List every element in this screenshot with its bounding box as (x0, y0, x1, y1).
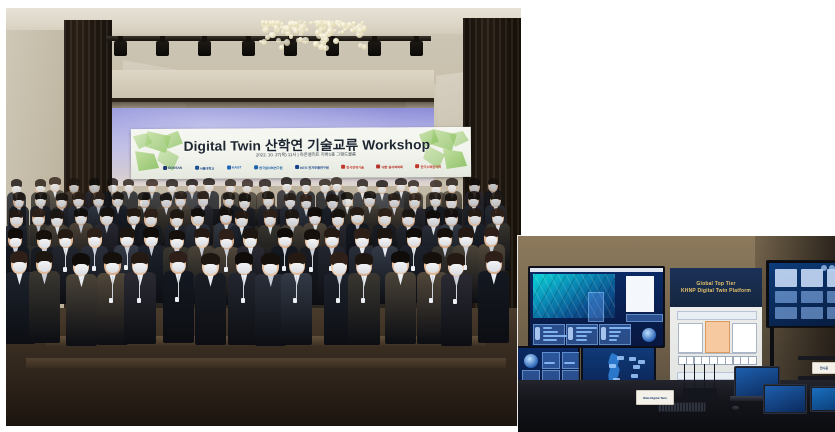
lanyard-cord (413, 248, 414, 265)
router-antenna (684, 364, 685, 389)
sensor-bar (543, 339, 557, 341)
name-badge (63, 267, 67, 272)
plant-site-marker (631, 374, 638, 378)
banner-sponsor-logo: KETI 전자부품연구원 (295, 164, 329, 169)
sensor-bar (609, 335, 619, 337)
name-badge (241, 298, 245, 303)
name-badge (453, 299, 457, 304)
name-badge (92, 266, 96, 271)
face-mask (237, 218, 247, 226)
banner-sponsor-logo: DOOSAN (163, 166, 182, 170)
lanyard-cord (312, 250, 313, 267)
sensor-bar (576, 327, 597, 329)
sponsor-logo-mark (195, 166, 199, 170)
name-badge (411, 266, 415, 271)
face-mask (283, 184, 291, 191)
sponsor-logo-label: KAIST (232, 165, 242, 169)
face-mask (188, 185, 196, 192)
face-mask (140, 200, 149, 207)
lanyard-cord (243, 277, 244, 299)
plant-site-marker (633, 365, 640, 369)
monitor-screen (530, 268, 663, 346)
side-info-panel (626, 276, 654, 312)
lanyard-cord (296, 276, 297, 298)
face-mask (333, 263, 346, 274)
chandelier (258, 20, 368, 50)
stage-light (114, 41, 127, 56)
face-mask (356, 238, 368, 247)
name-badge (109, 298, 113, 303)
dashboard-bar (564, 362, 575, 364)
sensor-icon (568, 327, 573, 340)
lanyard-cord (178, 275, 179, 297)
lanyard-cord (456, 278, 457, 300)
face-mask (470, 216, 480, 224)
dashboard-tile (562, 352, 580, 369)
tv-chart-widget (775, 269, 797, 287)
face-mask (428, 218, 438, 226)
banner-sponsor-logo: 한국원자력연구원 (254, 165, 283, 170)
chandelier-bulb (279, 45, 284, 50)
poster-diagram-box (678, 323, 703, 353)
face-mask (450, 264, 463, 275)
face-mask (146, 237, 158, 246)
face-mask (447, 201, 456, 208)
chandelier-bulb (303, 21, 306, 24)
poster-diagram-box (732, 323, 757, 353)
workshop-banner: Digital Twin 산학연 기술교류 Workshop 2022. 10.… (131, 127, 471, 179)
sponsor-logo-mark (163, 166, 167, 170)
sensor-bar (543, 335, 567, 337)
face-mask (51, 184, 59, 191)
screenshot-canvas: Digital Twin 산학연 기술교류 Workshop 2022. 10.… (0, 0, 835, 432)
face-mask (431, 199, 440, 206)
face-mask (328, 201, 337, 208)
face-mask (240, 201, 249, 208)
dashboard-tile (542, 352, 560, 369)
banner-sponsor-logo-row: DOOSAN서울대학교KAIST한국원자력연구원KETI 전자부품연구원한국전력… (163, 160, 441, 174)
equipment-shelf (798, 356, 835, 360)
sponsor-logo-mark (377, 164, 381, 168)
face-mask (448, 185, 456, 192)
chandelier-bulb (261, 39, 267, 45)
wall-tv-monitor (766, 260, 835, 328)
sponsor-logo-label: 한국원자력연구원 (259, 165, 283, 170)
face-mask (171, 239, 183, 248)
tv-indicator (821, 265, 827, 271)
chandelier-bulb (261, 20, 264, 23)
name-badge (429, 298, 433, 303)
chandelier-bulb (285, 26, 291, 32)
face-mask (162, 200, 171, 207)
sponsor-logo-label: DOOSAN (168, 166, 182, 170)
sponsor-logo-label: KETI 전자부품연구원 (300, 164, 329, 169)
lanyard-cord (432, 276, 433, 298)
name-badge (282, 266, 286, 271)
chandelier-bulb (316, 20, 322, 26)
face-mask (172, 218, 182, 226)
lanyard-cord (284, 249, 285, 266)
sensor-bar (576, 339, 587, 341)
face-mask (302, 201, 311, 208)
exhibit-label-card: Web-Digital Twin (636, 390, 674, 405)
plant-site-marker (617, 356, 624, 360)
chandelier-bulb (269, 32, 275, 38)
name-badge (124, 265, 128, 270)
plant-site-marker (629, 357, 636, 361)
face-mask (148, 186, 156, 193)
chandelier-bulb (352, 21, 355, 24)
exhibit-label-text: Web-Digital Twin (643, 396, 667, 400)
chandelier-bulb (343, 28, 347, 32)
face-mask (326, 237, 338, 246)
face-mask (196, 237, 208, 246)
tablet-screen (812, 388, 835, 410)
face-mask (114, 199, 123, 206)
shelf-sign-card: 전시품 (812, 362, 835, 374)
face-mask (199, 199, 208, 206)
attendee-crowd (6, 176, 521, 426)
poster-headline: Global Top Tier KHNP Digital Twin Platfo… (670, 268, 762, 307)
tv-status-widget (801, 291, 823, 303)
poster-headline-line2: KHNP Digital Twin Platform (681, 288, 751, 294)
face-mask (10, 238, 22, 247)
name-badge (137, 298, 141, 303)
lanyard-cord (465, 248, 466, 265)
poster-caption-strip (677, 311, 757, 320)
face-mask (102, 216, 112, 224)
lanyard-cord (65, 249, 66, 266)
face-mask (408, 237, 420, 246)
sensor-bar (609, 331, 621, 333)
lanyard-cord (363, 277, 364, 299)
face-mask (302, 185, 310, 192)
router-antenna (704, 364, 705, 389)
face-mask (390, 200, 399, 207)
tv-chart-widget (827, 269, 835, 287)
face-mask (446, 217, 456, 225)
face-mask (287, 218, 297, 226)
face-mask (307, 239, 319, 248)
chandelier-bulb (362, 44, 368, 50)
workshop-group-photo: Digital Twin 산학연 기술교류 Workshop 2022. 10.… (6, 8, 521, 426)
router-antenna (694, 364, 695, 389)
banner-sponsor-logo: 한국수력원자력 (416, 164, 442, 169)
face-mask (379, 238, 391, 247)
lanyard-cord (139, 276, 140, 298)
sensor-icon (601, 327, 606, 340)
name-badge (361, 298, 365, 303)
main-3d-digital-twin-monitor (528, 266, 665, 348)
chandelier-bulb (299, 24, 305, 30)
sponsor-logo-label: 서울대학교 (200, 165, 215, 170)
circular-gauge (642, 328, 656, 342)
sensor-bar (576, 335, 587, 337)
name-badge (293, 298, 297, 303)
shelf-sign-text: 전시품 (820, 366, 828, 370)
lanyard-cord (226, 250, 227, 267)
sensor-bar (576, 331, 592, 333)
data-list-panel (588, 292, 604, 322)
plant-site-marker (638, 360, 645, 364)
tv-status-widget (775, 307, 797, 319)
banner-sponsor-logo: KAIST (227, 165, 242, 169)
screen-titlebar (530, 268, 663, 272)
face-mask (286, 200, 295, 207)
face-mask (343, 199, 352, 206)
stage-light (198, 41, 211, 56)
tv-status-widget (801, 307, 823, 319)
wifi-router (683, 388, 717, 397)
face-mask (221, 239, 233, 248)
sponsor-logo-mark (416, 164, 420, 168)
tv-status-widget (775, 291, 797, 303)
sensor-bar (609, 339, 617, 341)
face-mask (409, 186, 417, 193)
mouse (732, 406, 739, 410)
face-mask (38, 261, 51, 272)
lanyard-cord (94, 249, 95, 266)
sensor-bar (543, 327, 552, 329)
stage-light (156, 41, 169, 56)
sponsor-logo-label: 대한 원자력학회 (382, 164, 403, 169)
banner-leaf (135, 151, 159, 171)
name-badge (336, 298, 340, 303)
sensor-icon (535, 327, 540, 340)
poster-headline-line1: Global Top Tier (696, 281, 735, 287)
khnp-digital-twin-exhibit-booth: Global Top Tier KHNP Digital Twin Platfo… (518, 236, 835, 432)
chandelier-bulb (324, 37, 329, 42)
stage-light (242, 41, 255, 56)
tv-indicator (829, 265, 835, 271)
monitor-screen (769, 263, 835, 326)
face-mask (264, 199, 273, 206)
plant-site-marker (609, 364, 616, 368)
banner-sponsor-logo: 한국전력기술 (341, 164, 364, 169)
face-mask (52, 218, 62, 226)
poster-diagram-box-highlight (705, 321, 730, 353)
pie-gauge (524, 354, 538, 368)
chandelier-bulb (284, 39, 290, 45)
banner-leaf (443, 149, 467, 169)
chandelier-bulb (275, 21, 279, 25)
sponsor-logo-label: 한국수력원자력 (421, 164, 442, 169)
lanyard-cord (339, 277, 340, 299)
face-mask (33, 217, 43, 225)
tablet-display-left (763, 384, 807, 414)
face-mask (129, 216, 139, 224)
banner-subtitle: 2022. 10. 27(목) 11시 | 라온엘리트 지하1층 그랜드볼룸 (186, 151, 426, 159)
sensor-bar (609, 327, 631, 329)
tablet-display-right (810, 386, 835, 412)
face-mask (90, 185, 98, 192)
stage-light (368, 41, 381, 56)
banner-sponsor-logo: 서울대학교 (195, 165, 215, 170)
status-tile (626, 314, 663, 322)
poster-connector-line (678, 353, 756, 354)
name-badge (175, 297, 179, 302)
dashboard-bar (544, 362, 555, 364)
chandelier-bulb (333, 38, 339, 44)
face-mask (460, 237, 472, 246)
sponsor-logo-mark (341, 165, 345, 169)
face-mask (245, 238, 257, 247)
tv-chart-widget (801, 269, 823, 287)
sponsor-logo-mark (295, 165, 299, 169)
name-badge (224, 267, 228, 272)
sponsor-logo-mark (254, 165, 258, 169)
face-mask (75, 264, 88, 275)
chandelier-bulb (274, 25, 278, 29)
face-mask (333, 184, 341, 191)
face-mask (237, 263, 250, 274)
sponsor-logo-label: 한국전력기술 (346, 164, 364, 169)
banner-sponsor-logo: 대한 원자력학회 (377, 164, 403, 169)
tv-status-widget (827, 307, 835, 319)
face-mask (125, 185, 133, 192)
face-mask (109, 185, 117, 192)
chandelier-bulb (302, 37, 309, 44)
poster-chain-node (748, 356, 757, 365)
chandelier-bulb (309, 21, 313, 25)
chandelier-bulb (276, 38, 282, 44)
face-mask (394, 262, 407, 273)
face-mask (493, 216, 503, 224)
chandelier-bulb (357, 27, 364, 34)
face-mask (176, 199, 185, 206)
tablet-screen (765, 386, 805, 412)
lanyard-cord (127, 248, 128, 265)
face-mask (121, 237, 133, 246)
stage-light (410, 41, 423, 56)
chandelier-bulb (338, 31, 341, 34)
chandelier-bulb (305, 28, 308, 31)
tv-status-widget (827, 291, 835, 303)
face-mask (39, 239, 51, 248)
face-mask (487, 261, 500, 272)
chandelier-bulb (350, 28, 355, 33)
lanyard-cord (112, 276, 113, 298)
sponsor-logo-mark (227, 165, 231, 169)
sensor-bar (543, 331, 558, 333)
face-mask (15, 200, 24, 207)
router-antenna (714, 364, 715, 389)
face-mask (70, 185, 78, 192)
